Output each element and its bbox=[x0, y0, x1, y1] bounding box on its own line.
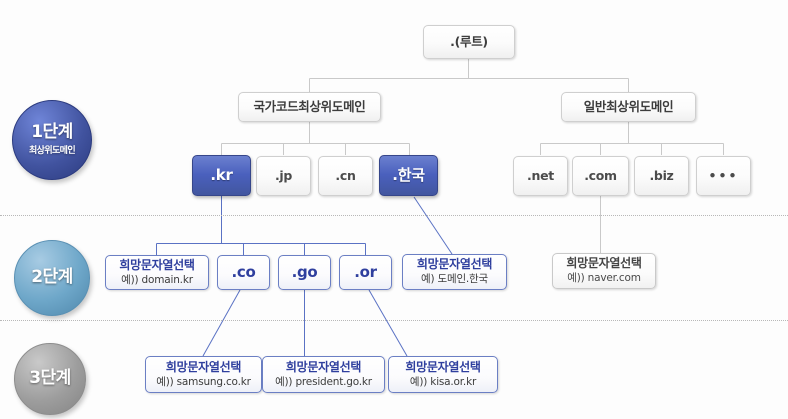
node-tld-hanguk-label: .한국 bbox=[392, 167, 424, 184]
wire-hanguk-to-domainhanguk bbox=[414, 197, 452, 254]
stage-badge-1: 1단계 최상위도메인 bbox=[12, 100, 92, 180]
stage-badge-1-number: 1단계 bbox=[31, 124, 73, 142]
node-root-label: .(루트) bbox=[450, 35, 488, 49]
node-level3-president[interactable]: 희망문자열선택 예)) president.go.kr bbox=[262, 356, 385, 393]
node-tld-more[interactable]: ••• bbox=[696, 156, 751, 196]
node-tld-kr[interactable]: .kr bbox=[192, 155, 251, 196]
node-tld-jp[interactable]: .jp bbox=[256, 156, 311, 196]
node-level2-go[interactable]: .go bbox=[278, 255, 331, 290]
stage-separator-1 bbox=[0, 215, 788, 216]
node-level3-kisa-example: 예)) kisa.or.kr bbox=[410, 376, 476, 389]
node-category-cctld[interactable]: 국가코드최상위도메인 bbox=[238, 92, 381, 122]
node-level3-samsung[interactable]: 희망문자열선택 예)) samsung.co.kr bbox=[145, 356, 262, 393]
node-category-gtld-label: 일반최상위도메인 bbox=[584, 100, 674, 114]
node-level2-domain-kr-title: 희망문자열선택 bbox=[119, 259, 194, 273]
node-tld-net-label: .net bbox=[527, 169, 554, 183]
wire-co-to-samsung bbox=[203, 290, 240, 356]
stage-badge-1-sublabel: 최상위도메인 bbox=[29, 143, 75, 156]
node-tld-cn-label: .cn bbox=[335, 169, 355, 183]
node-level2-or-label: .or bbox=[354, 264, 377, 281]
stage-badge-2: 2단계 bbox=[14, 240, 90, 316]
node-level2-go-label: .go bbox=[292, 264, 318, 281]
domain-hierarchy-diagram: 1단계 최상위도메인 2단계 3단계 .(루트) 국가코드최상위도메인 일반최상… bbox=[0, 0, 788, 419]
node-tld-cn[interactable]: .cn bbox=[318, 156, 373, 196]
node-level3-president-title: 희망문자열선택 bbox=[286, 361, 361, 375]
node-category-gtld[interactable]: 일반최상위도메인 bbox=[561, 92, 696, 122]
node-tld-net[interactable]: .net bbox=[513, 156, 568, 196]
node-category-cctld-label: 국가코드최상위도메인 bbox=[253, 100, 365, 114]
node-level2-domain-kr-example: 예)) domain.kr bbox=[121, 274, 193, 287]
node-level3-samsung-title: 희망문자열선택 bbox=[166, 361, 241, 375]
node-root[interactable]: .(루트) bbox=[423, 25, 515, 59]
node-tld-biz-label: .biz bbox=[649, 169, 673, 183]
node-level2-naver-com-example: 예)) naver.com bbox=[567, 272, 640, 285]
stage-badge-3: 3단계 bbox=[14, 343, 86, 415]
node-level2-domain-hanguk-example: 예) 도메인.한국 bbox=[421, 273, 488, 286]
node-level3-kisa[interactable]: 희망문자열선택 예)) kisa.or.kr bbox=[388, 356, 498, 393]
node-level2-or[interactable]: .or bbox=[339, 255, 392, 290]
node-level3-president-example: 예)) president.go.kr bbox=[275, 376, 372, 389]
node-tld-hanguk[interactable]: .한국 bbox=[379, 155, 438, 196]
node-level2-domain-kr[interactable]: 희망문자열선택 예)) domain.kr bbox=[105, 255, 209, 290]
node-level2-naver-com-title: 희망문자열선택 bbox=[566, 257, 641, 271]
node-level3-kisa-title: 희망문자열선택 bbox=[405, 361, 480, 375]
node-level2-domain-hanguk-title: 희망문자열선택 bbox=[417, 258, 492, 272]
ellipsis-icon: ••• bbox=[709, 170, 739, 183]
stage-badge-2-number: 2단계 bbox=[31, 269, 73, 287]
node-level2-naver-com[interactable]: 희망문자열선택 예)) naver.com bbox=[552, 253, 656, 289]
node-tld-biz[interactable]: .biz bbox=[634, 156, 689, 196]
node-tld-jp-label: .jp bbox=[275, 169, 292, 183]
node-level2-domain-hanguk[interactable]: 희망문자열선택 예) 도메인.한국 bbox=[402, 254, 507, 290]
stage-badge-3-number: 3단계 bbox=[29, 370, 71, 388]
node-tld-com[interactable]: .com bbox=[572, 156, 629, 196]
wire-or-to-kisa bbox=[369, 290, 407, 356]
stage-separator-2 bbox=[0, 320, 788, 321]
node-level2-co[interactable]: .co bbox=[217, 255, 270, 290]
node-tld-kr-label: .kr bbox=[210, 167, 232, 184]
node-tld-com-label: .com bbox=[584, 169, 617, 183]
node-level3-samsung-example: 예)) samsung.co.kr bbox=[156, 376, 250, 389]
node-level2-co-label: .co bbox=[232, 264, 256, 281]
